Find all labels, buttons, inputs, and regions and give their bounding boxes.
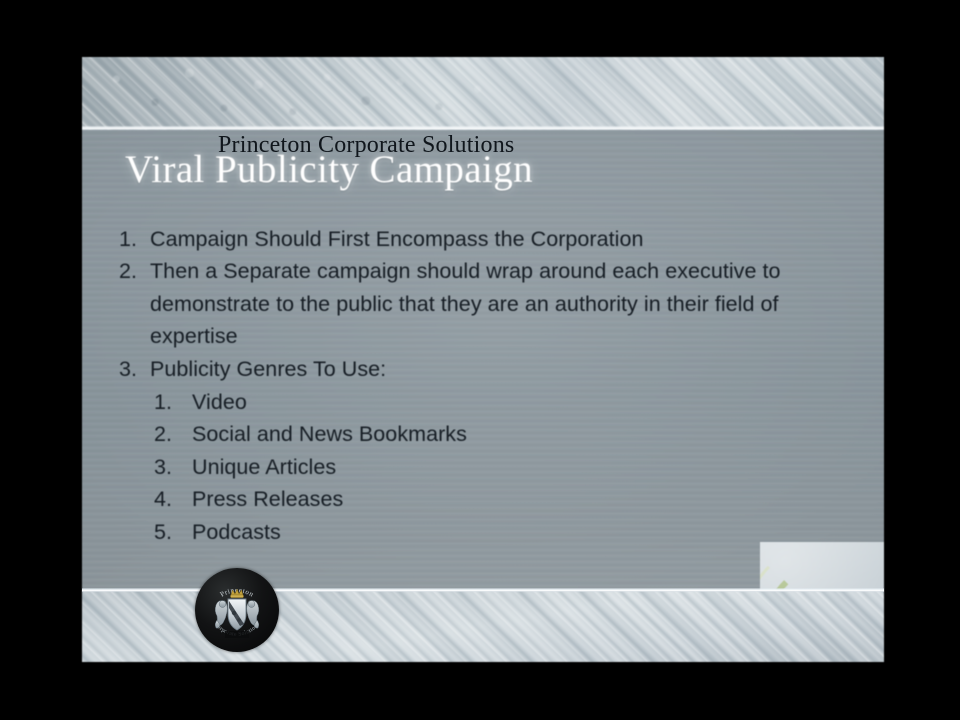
sublist-item: 3. Unique Articles: [114, 451, 874, 483]
sublist-item: 1. Video: [114, 386, 874, 418]
sublist-item-number: 5.: [154, 516, 192, 548]
header-highlight-line: [82, 126, 884, 130]
list-item-text: Campaign Should First Encompass the Corp…: [150, 223, 850, 255]
list-item-text: Then a Separate campaign should wrap aro…: [150, 255, 850, 352]
sublist-item-number: 1.: [154, 386, 192, 418]
presentation-slide: Viral Publicity Campaign 1. Campaign Sho…: [82, 57, 884, 662]
sublist-item-text: Unique Articles: [192, 451, 874, 483]
sublist-item-text: Video: [192, 386, 874, 418]
sublist-item-number: 3.: [154, 451, 192, 483]
slide-body-list: 1. Campaign Should First Encompass the C…: [114, 223, 874, 548]
sublist-item-text: Social and News Bookmarks: [192, 418, 874, 450]
sublist-item-text: Press Releases: [192, 483, 874, 515]
header-speckle-texture: [82, 57, 512, 130]
sublist-item-number: 2.: [154, 418, 192, 450]
list-item: 2. Then a Separate campaign should wrap …: [114, 255, 874, 352]
company-logo: Princeton Corporate Solutions: [195, 568, 279, 652]
video-letterbox-stage: Viral Publicity Campaign 1. Campaign Sho…: [0, 0, 960, 720]
sublist-item-number: 4.: [154, 483, 192, 515]
list-item: 1. Campaign Should First Encompass the C…: [114, 223, 874, 255]
crest-logo-icon: Princeton Corporate Solutions: [195, 568, 279, 652]
sublist-item: 4. Press Releases: [114, 483, 874, 515]
list-item-number: 3.: [114, 353, 150, 385]
slide-body-sublist: 1. Video 2. Social and News Bookmarks 3.…: [114, 386, 874, 548]
list-item-text: Publicity Genres To Use:: [150, 353, 850, 385]
sublist-item: 2. Social and News Bookmarks: [114, 418, 874, 450]
slide-header-band: [82, 57, 884, 130]
list-item-number: 2.: [114, 255, 150, 287]
list-item: 3. Publicity Genres To Use:: [114, 353, 874, 385]
footer-company-name: Princeton Corporate Solutions: [218, 131, 514, 159]
list-item-number: 1.: [114, 223, 150, 255]
